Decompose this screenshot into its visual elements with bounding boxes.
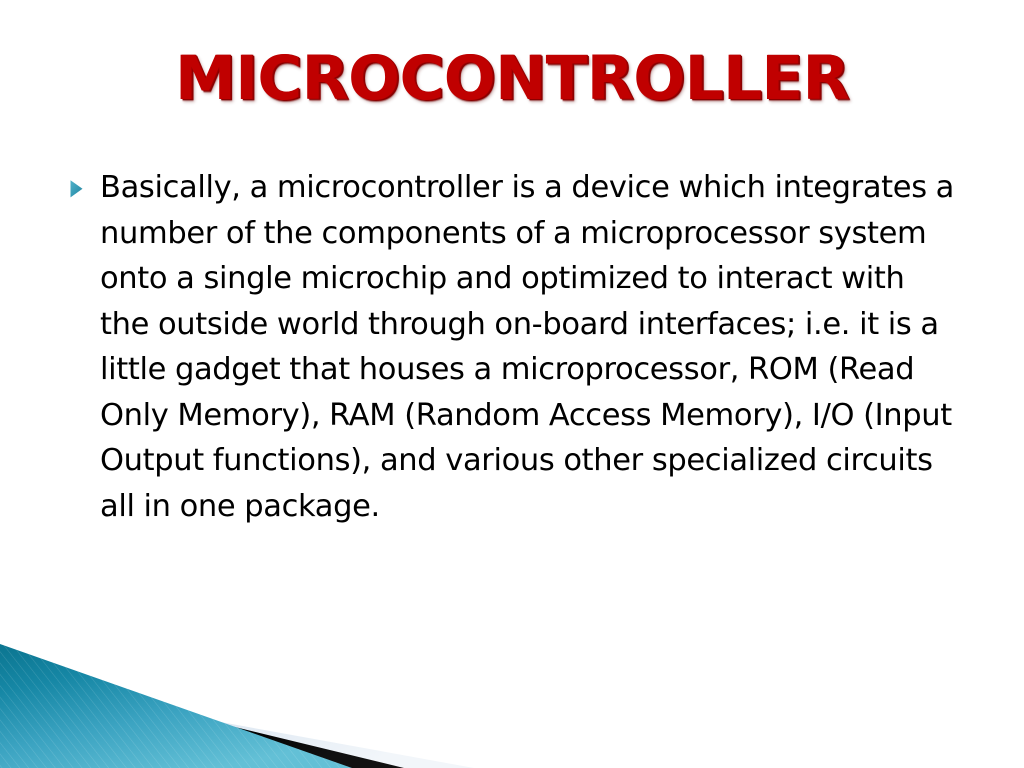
triangle-right-icon [66, 165, 100, 200]
list-item: Basically, a microcontroller is a device… [66, 165, 966, 529]
list-item-label: Basically, a microcontroller is a device… [100, 165, 955, 529]
slide-body: Basically, a microcontroller is a device… [66, 165, 966, 529]
presentation-slide: MICROCONTROLLER Basically, a microcontro… [0, 0, 1024, 768]
page-title: MICROCONTROLLER [0, 48, 1024, 109]
decorative-diagonal-bands [0, 618, 1024, 768]
